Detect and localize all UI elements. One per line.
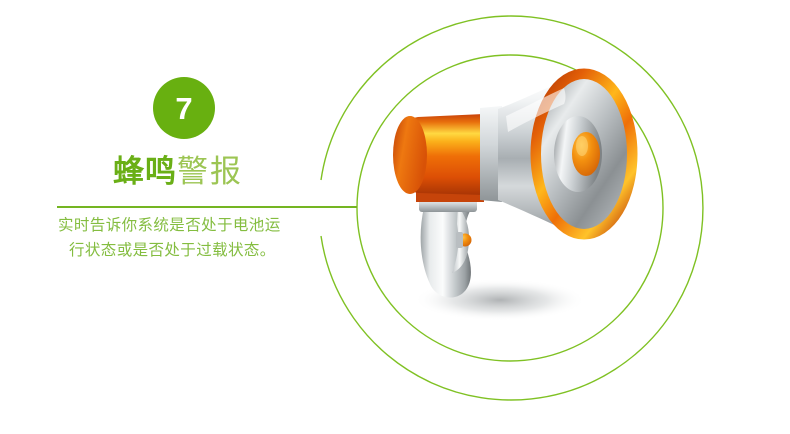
title-divider [57, 206, 357, 208]
page-title: 蜂鸣警报 [113, 154, 243, 190]
page-title-light: 警报 [177, 154, 243, 189]
center-knob-highlight [576, 136, 588, 156]
trigger-button-mount [456, 232, 463, 248]
barrel-back-cap [393, 116, 427, 194]
step-number-value: 7 [175, 93, 192, 124]
description-line-2: 行状态或是否处于过载状态。 [58, 238, 348, 263]
page-title-strong: 蜂鸣 [113, 154, 177, 189]
slide-canvas: 7 蜂鸣警报 实时告诉你系统是否处于电池运 行状态或是否处于过载状态。 [0, 0, 790, 434]
step-number-badge: 7 [153, 77, 215, 139]
description-text: 实时告诉你系统是否处于电池运 行状态或是否处于过载状态。 [58, 213, 348, 263]
description-line-1: 实时告诉你系统是否处于电池运 [58, 213, 348, 238]
megaphone-icon [372, 62, 662, 332]
